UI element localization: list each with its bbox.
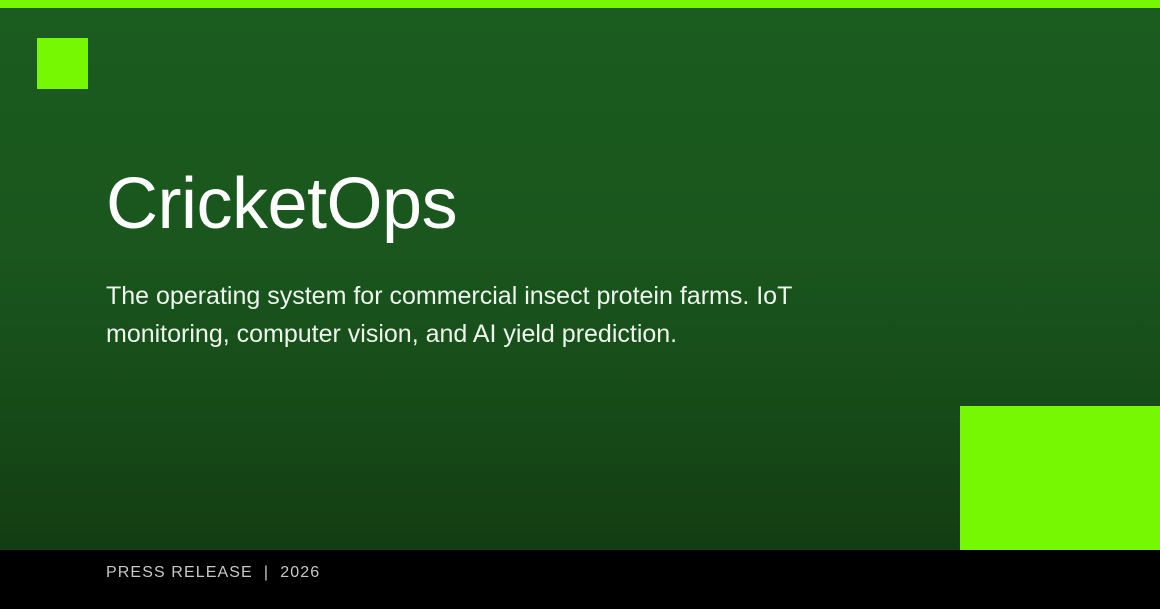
slide-body: CricketOps The operating system for comm… [0, 8, 1160, 550]
slide-title: CricketOps [106, 168, 926, 240]
accent-block-bottom-right [960, 406, 1160, 550]
presentation-slide: CricketOps The operating system for comm… [0, 0, 1160, 609]
accent-square-top-left [37, 38, 88, 89]
footer-label: PRESS RELEASE | 2026 [106, 563, 320, 583]
slide-subtitle: The operating system for commercial inse… [106, 240, 876, 353]
slide-content: CricketOps The operating system for comm… [106, 168, 926, 353]
top-accent-bar [0, 0, 1160, 8]
